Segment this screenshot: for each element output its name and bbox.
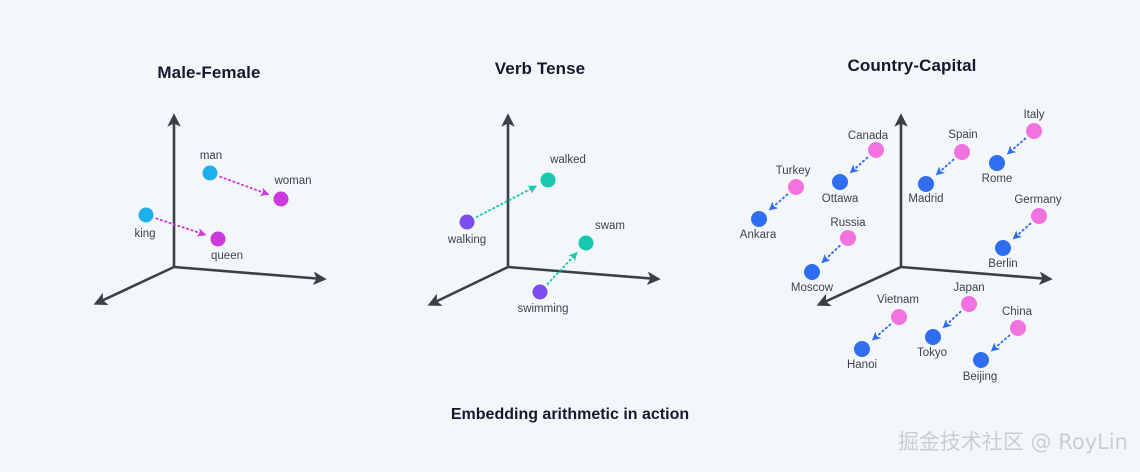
verb-tense-dot-walking[interactable] [460,215,475,230]
male-female-dot-man[interactable] [203,166,218,181]
country-capital-dot-canada[interactable] [868,142,884,158]
male-female-dot-king[interactable] [139,208,154,223]
dots-layer [139,123,1048,368]
verb-tense-arrow-walking-to-walked [477,186,536,216]
verb-tense-arrow-swimming-to-swam [548,253,577,284]
node-label-madrid: Madrid [908,193,943,205]
node-label-swam: swam [595,220,625,232]
verb-tense-dot-swimming[interactable] [533,285,548,300]
node-label-walked: walked [550,154,586,166]
country-capital-dot-spain[interactable] [954,144,970,160]
verb-tense-dot-walked[interactable] [541,173,556,188]
country-capital-dot-china[interactable] [1010,320,1026,336]
node-label-king: king [134,228,155,240]
country-capital-dot-moscow[interactable] [804,264,820,280]
country-capital-dot-italy[interactable] [1026,123,1042,139]
country-capital-dot-turkey[interactable] [788,179,804,195]
male-female-z-axis [97,267,174,303]
country-capital-dot-madrid[interactable] [918,176,934,192]
node-label-canada: Canada [848,130,888,142]
node-label-spain: Spain [948,129,977,141]
node-label-berlin: Berlin [988,258,1017,270]
node-label-vietnam: Vietnam [877,294,919,306]
node-label-china: China [1002,306,1032,318]
watermark: 掘金技术社区 @ RoyLin [898,426,1128,456]
node-label-swimming: swimming [517,303,568,315]
node-label-tokyo: Tokyo [917,347,947,359]
diagram-canvas: Male-FemaleVerb TenseCountry-Capital man… [0,0,1140,472]
node-label-beijing: Beijing [963,371,998,383]
country-capital-dot-ankara[interactable] [751,211,767,227]
node-label-woman: woman [274,175,311,187]
male-female-arrow-man-to-woman [220,177,268,194]
node-label-turkey: Turkey [776,165,811,177]
country-capital-arrow-canada-to-ottawa [851,158,868,173]
node-label-walking: walking [448,234,486,246]
country-capital-dot-tokyo[interactable] [925,329,941,345]
country-capital-dot-ottawa[interactable] [832,174,848,190]
verb-tense-z-axis [431,267,508,304]
figure-caption: Embedding arithmetic in action [451,406,689,424]
male-female-arrow-king-to-queen [156,218,204,234]
country-capital-x-axis [901,267,1049,279]
node-label-italy: Italy [1023,109,1044,121]
axes-layer [97,117,1049,304]
panel-title-male-female: Male-Female [157,63,260,83]
country-capital-dot-russia[interactable] [840,230,856,246]
verb-tense-x-axis [508,267,657,279]
node-label-hanoi: Hanoi [847,359,877,371]
country-capital-dot-beijing[interactable] [973,352,989,368]
country-capital-dot-berlin[interactable] [995,240,1011,256]
panel-title-verb-tense: Verb Tense [495,59,585,79]
node-label-moscow: Moscow [791,282,833,294]
male-female-x-axis [174,267,323,279]
country-capital-dot-vietnam[interactable] [891,309,907,325]
node-label-russia: Russia [830,217,865,229]
node-label-japan: Japan [953,282,984,294]
country-capital-dot-germany[interactable] [1031,208,1047,224]
country-capital-arrow-spain-to-madrid [937,160,954,175]
node-label-man: man [200,150,222,162]
country-capital-arrow-germany-to-berlin [1014,224,1031,239]
node-label-rome: Rome [982,173,1013,185]
panel-title-country-capital: Country-Capital [848,56,977,76]
country-capital-dot-hanoi[interactable] [854,341,870,357]
country-capital-arrow-japan-to-tokyo [944,312,961,327]
country-capital-dot-rome[interactable] [989,155,1005,171]
node-label-ottawa: Ottawa [822,193,858,205]
country-capital-arrow-vietnam-to-hanoi [873,325,890,340]
node-label-germany: Germany [1014,194,1061,206]
verb-tense-dot-swam[interactable] [579,236,594,251]
country-capital-dot-japan[interactable] [961,296,977,312]
male-female-dot-queen[interactable] [211,232,226,247]
country-capital-arrow-russia-to-moscow [823,246,840,262]
country-capital-arrow-turkey-to-ankara [770,195,787,210]
node-label-queen: queen [211,250,243,262]
country-capital-arrow-italy-to-rome [1008,139,1025,154]
male-female-dot-woman[interactable] [274,192,289,207]
node-label-ankara: Ankara [740,229,776,241]
country-capital-arrow-china-to-beijing [992,336,1009,351]
